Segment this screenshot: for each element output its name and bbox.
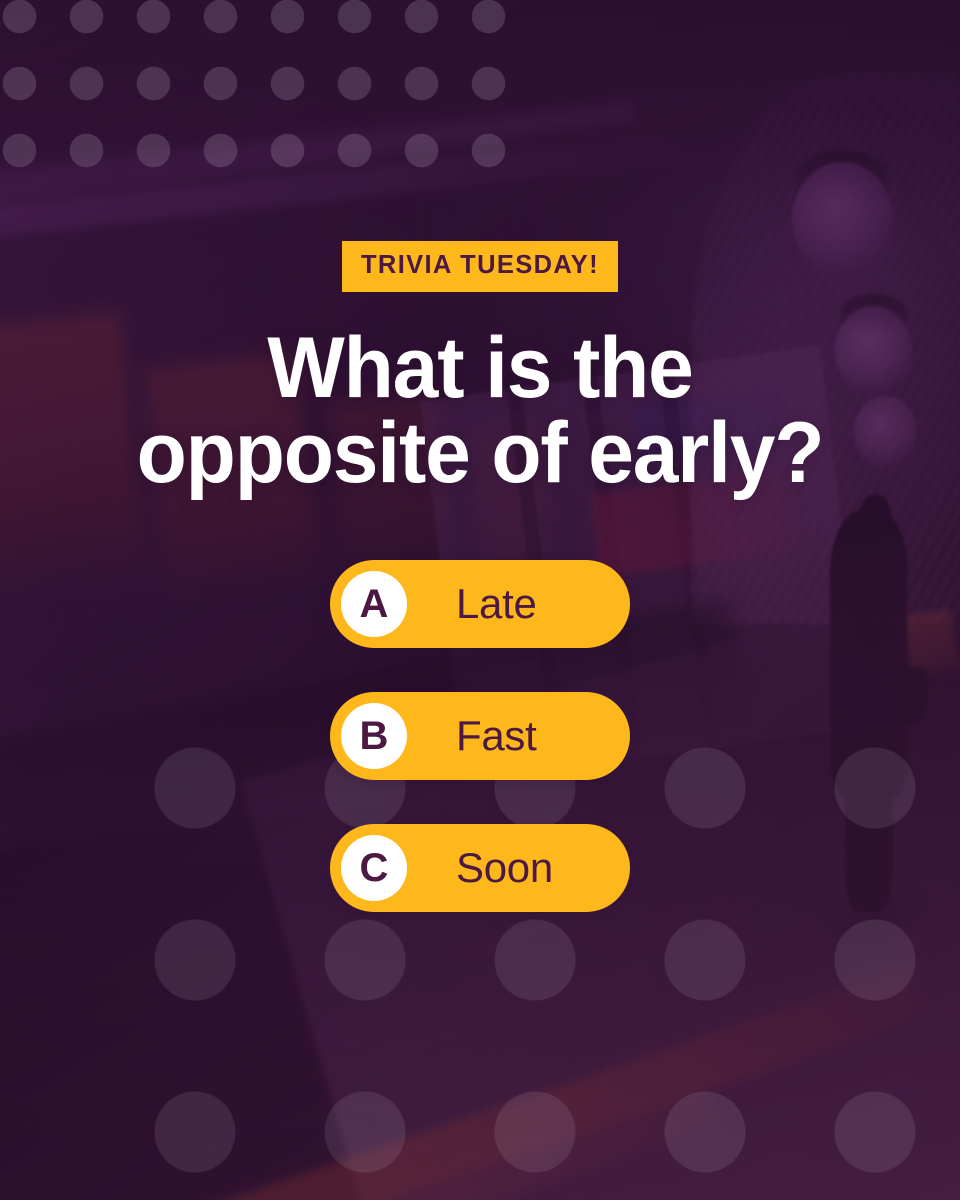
- poster-content: TRIVIA TUESDAY! What is the opposite of …: [0, 0, 960, 1200]
- question-line-2: opposite of early?: [50, 411, 910, 496]
- option-label-c: Soon: [456, 847, 553, 889]
- option-letter-badge-b: B: [341, 703, 407, 769]
- answer-option-a[interactable]: A Late: [330, 560, 630, 648]
- question-heading: What is the opposite of early?: [30, 326, 930, 496]
- trivia-tuesday-badge: TRIVIA TUESDAY!: [342, 241, 618, 292]
- question-line-1: What is the: [50, 326, 910, 411]
- answer-options-list: A Late B Fast C Soon: [330, 560, 630, 912]
- option-letter-badge-c: C: [341, 835, 407, 901]
- option-letter-badge-a: A: [341, 571, 407, 637]
- option-label-b: Fast: [456, 715, 536, 757]
- trivia-poster: TRIVIA TUESDAY! What is the opposite of …: [0, 0, 960, 1200]
- option-label-a: Late: [456, 583, 537, 625]
- answer-option-b[interactable]: B Fast: [330, 692, 630, 780]
- answer-option-c[interactable]: C Soon: [330, 824, 630, 912]
